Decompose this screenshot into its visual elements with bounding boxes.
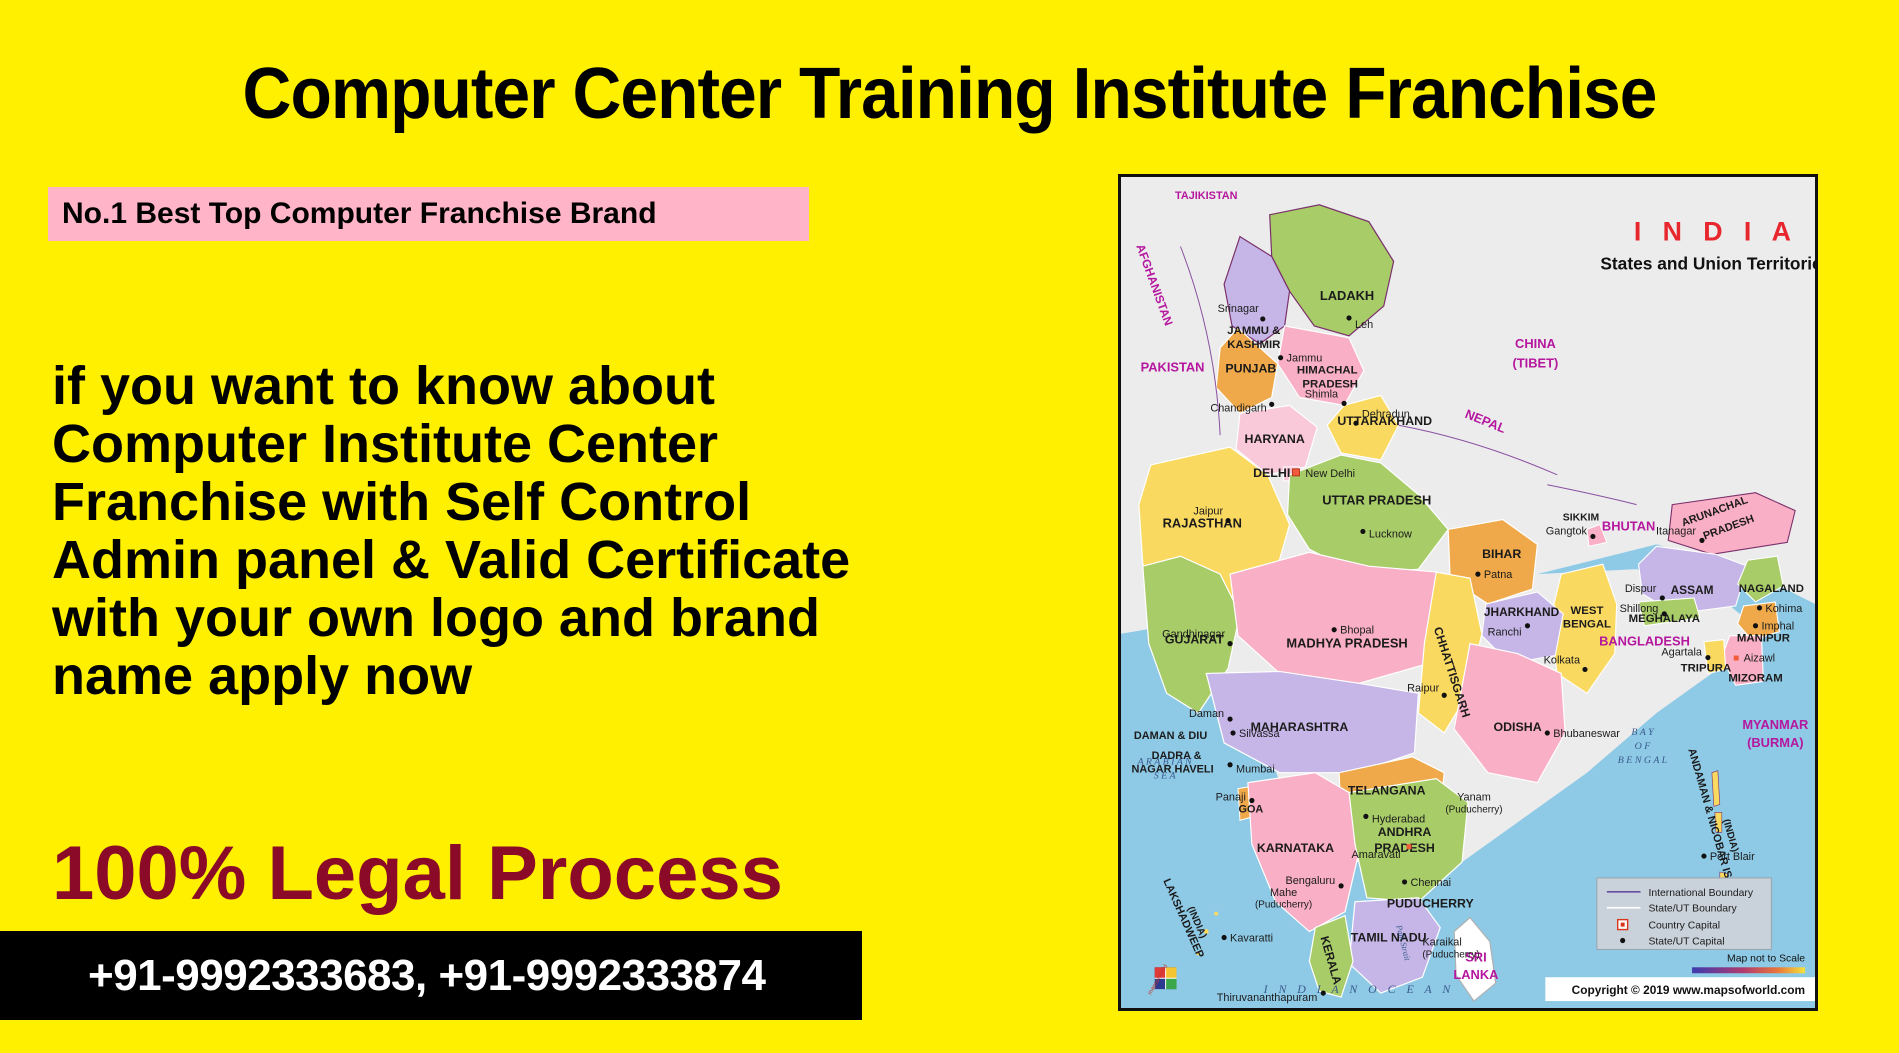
- label-andhra: ANDHRA: [1378, 825, 1432, 839]
- label-sikkim: SIKKIM: [1563, 513, 1599, 524]
- capital-kolkata: Kolkata: [1544, 654, 1581, 666]
- label-pakistan: PAKISTAN: [1141, 360, 1205, 375]
- label-tamil-nadu: TAMIL NADU: [1351, 930, 1427, 944]
- map-copyright: Copyright © 2019 www.mapsofworld.com: [1572, 983, 1805, 997]
- capital-bengaluru: Bengaluru: [1285, 875, 1335, 887]
- label-myanmar: MYANMAR: [1742, 717, 1809, 732]
- label-himachal: HIMACHAL: [1297, 365, 1358, 377]
- state-capital-swatch: [1620, 938, 1625, 943]
- legend-label-state-capital: State/UT Capital: [1648, 936, 1724, 947]
- label-yanam: Yanam: [1457, 791, 1491, 803]
- label-china: CHINA: [1515, 336, 1556, 351]
- capital-agartala: Agartala: [1661, 647, 1703, 659]
- capital-mumbai: Mumbai: [1236, 764, 1275, 776]
- capital-srinagar: Srinagar: [1218, 303, 1260, 315]
- label-burma: (BURMA): [1747, 735, 1803, 750]
- label-mahe: Mahe: [1270, 887, 1297, 899]
- capital-aizawl: Aizawl: [1744, 652, 1775, 664]
- capital-amaravati: Amaravati: [1352, 849, 1401, 861]
- map-color-scalebar: [1692, 967, 1805, 973]
- capital-chandigarh: Chandigarh: [1210, 402, 1266, 414]
- map-legend: International Boundary State/UT Boundary…: [1597, 878, 1771, 949]
- capital-silvassa: Silvassa: [1239, 728, 1281, 740]
- capital-gangtok: Gangtok: [1546, 525, 1588, 537]
- phone-contact-bar[interactable]: +91-9992333683, +91-9992333874: [0, 931, 862, 1020]
- label-karaikal-pud: (Puducherry): [1422, 949, 1479, 960]
- country-capital-marker: [1293, 469, 1300, 476]
- label-ladakh: LADAKH: [1320, 288, 1374, 303]
- capital-kohima: Kohima: [1765, 603, 1803, 615]
- capital-chennai: Chennai: [1410, 877, 1451, 889]
- label-yanam-pud: (Puducherry): [1445, 804, 1502, 815]
- capital-hyderabad: Hyderabad: [1372, 813, 1425, 825]
- label-arabian-sea-1: A R A B I A N: [1137, 757, 1193, 768]
- label-uttar-pradesh: UTTAR PRADESH: [1322, 493, 1431, 508]
- label-bhutan: BHUTAN: [1602, 518, 1655, 533]
- capital-new-delhi: New Delhi: [1305, 468, 1355, 480]
- capital-jammu: Jammu: [1287, 353, 1323, 365]
- label-odisha: ODISHA: [1493, 720, 1541, 734]
- legend-label-international-boundary: International Boundary: [1648, 888, 1753, 899]
- label-tajikistan: TAJIKISTAN: [1175, 190, 1238, 202]
- label-daman-diu: DAMAN & DIU: [1134, 730, 1207, 742]
- page-title: Computer Center Training Institute Franc…: [57, 58, 1842, 130]
- label-goa: GOA: [1238, 803, 1263, 815]
- label-madhya-pradesh: MADHYA PRADESH: [1286, 636, 1407, 651]
- label-puducherry: PUDUCHERRY: [1387, 897, 1475, 911]
- map-title: I N D I A: [1634, 217, 1798, 247]
- capital-bhopal: Bhopal: [1340, 625, 1374, 637]
- label-lanka: LANKA: [1453, 967, 1498, 982]
- country-capital-swatch-core: [1621, 923, 1625, 927]
- phone-numbers[interactable]: +91-9992333683, +91-9992333874: [0, 951, 765, 1001]
- capital-shimla: Shimla: [1305, 388, 1339, 400]
- capital-gandhinagar: Gandhinagar: [1162, 629, 1225, 641]
- promo-line: Franchise with Self Control: [52, 473, 1062, 531]
- promo-body: if you want to know about Computer Insti…: [52, 357, 1062, 705]
- promo-line: with your own logo and brand: [52, 589, 1062, 647]
- label-bay-2: O F: [1635, 741, 1652, 752]
- label-tibet: (TIBET): [1513, 356, 1559, 371]
- india-map-svg: I N D I A States and Union Territories L…: [1121, 177, 1815, 1008]
- promo-line: Admin panel & Valid Certificate: [52, 531, 1062, 589]
- legend-label-country-capital: Country Capital: [1648, 921, 1720, 932]
- label-mahe-pud: (Puducherry): [1255, 900, 1312, 911]
- promo-line: if you want to know about: [52, 357, 1062, 415]
- capital-daman: Daman: [1189, 708, 1224, 720]
- capital-dispur: Dispur: [1625, 583, 1657, 595]
- label-rajasthan: RAJASTHAN: [1163, 515, 1242, 530]
- capital-patna: Patna: [1484, 569, 1513, 581]
- label-bay-1: B A Y: [1631, 727, 1655, 738]
- capital-dehradun: Dehradun: [1362, 408, 1410, 420]
- capital-bhubaneswar: Bhubaneswar: [1553, 728, 1620, 740]
- capital-itanagar: Itanagar: [1656, 525, 1696, 537]
- label-punjab: PUNJAB: [1225, 362, 1276, 376]
- tagline-text: No.1 Best Top Computer Franchise Brand: [48, 197, 657, 231]
- capital-leh: Leh: [1355, 319, 1373, 331]
- india-map-panel: I N D I A States and Union Territories L…: [1118, 174, 1818, 1011]
- capital-kavaratti: Kavaratti: [1230, 932, 1273, 944]
- label-bihar: BIHAR: [1482, 547, 1521, 561]
- promo-line: name apply now: [52, 647, 1062, 705]
- label-bengal: BENGAL: [1563, 619, 1611, 631]
- tagline-banner: No.1 Best Top Computer Franchise Brand: [48, 187, 809, 241]
- map-subtitle: States and Union Territories: [1600, 253, 1815, 273]
- capital-jaipur: Jaipur: [1193, 506, 1223, 518]
- label-tripura: TRIPURA: [1681, 662, 1732, 674]
- label-manipur: MANIPUR: [1737, 633, 1790, 645]
- capital-ranchi: Ranchi: [1488, 627, 1522, 639]
- label-mizoram: MIZORAM: [1728, 672, 1782, 684]
- label-jammu: JAMMU &: [1227, 325, 1280, 337]
- capital-panaji: Panaji: [1216, 791, 1246, 803]
- label-jharkhand: JHARKHAND: [1484, 605, 1560, 619]
- capital-shillong: Shillong: [1620, 603, 1659, 615]
- legend-label-state-boundary: State/UT Boundary: [1648, 904, 1737, 915]
- label-arabian-sea-2: S E A: [1154, 771, 1177, 782]
- label-nagaland: NAGALAND: [1739, 583, 1804, 595]
- capital-thiruvananthapuram: Thiruvananthapuram: [1217, 992, 1318, 1004]
- label-telangana: TELANGANA: [1348, 784, 1426, 798]
- label-bay-3: B E N G A L: [1618, 755, 1668, 766]
- label-karnataka: KARNATAKA: [1257, 841, 1334, 855]
- label-kashmir: KASHMIR: [1227, 339, 1280, 351]
- label-delhi: DELHI: [1253, 466, 1290, 480]
- promo-line: Computer Institute Center: [52, 415, 1062, 473]
- capital-imphal: Imphal: [1761, 621, 1794, 633]
- capital-port-blair: Port Blair: [1710, 851, 1755, 863]
- legal-highlight-text: 100% Legal Process: [52, 835, 783, 913]
- label-west: WEST: [1571, 605, 1604, 617]
- capital-raipur: Raipur: [1407, 682, 1439, 694]
- capital-lucknow: Lucknow: [1369, 528, 1412, 540]
- map-scale-note: Map not to Scale: [1727, 953, 1805, 964]
- label-haryana: HARYANA: [1245, 432, 1305, 446]
- label-assam: ASSAM: [1671, 583, 1714, 597]
- label-karaikal: Karaikal: [1422, 936, 1461, 948]
